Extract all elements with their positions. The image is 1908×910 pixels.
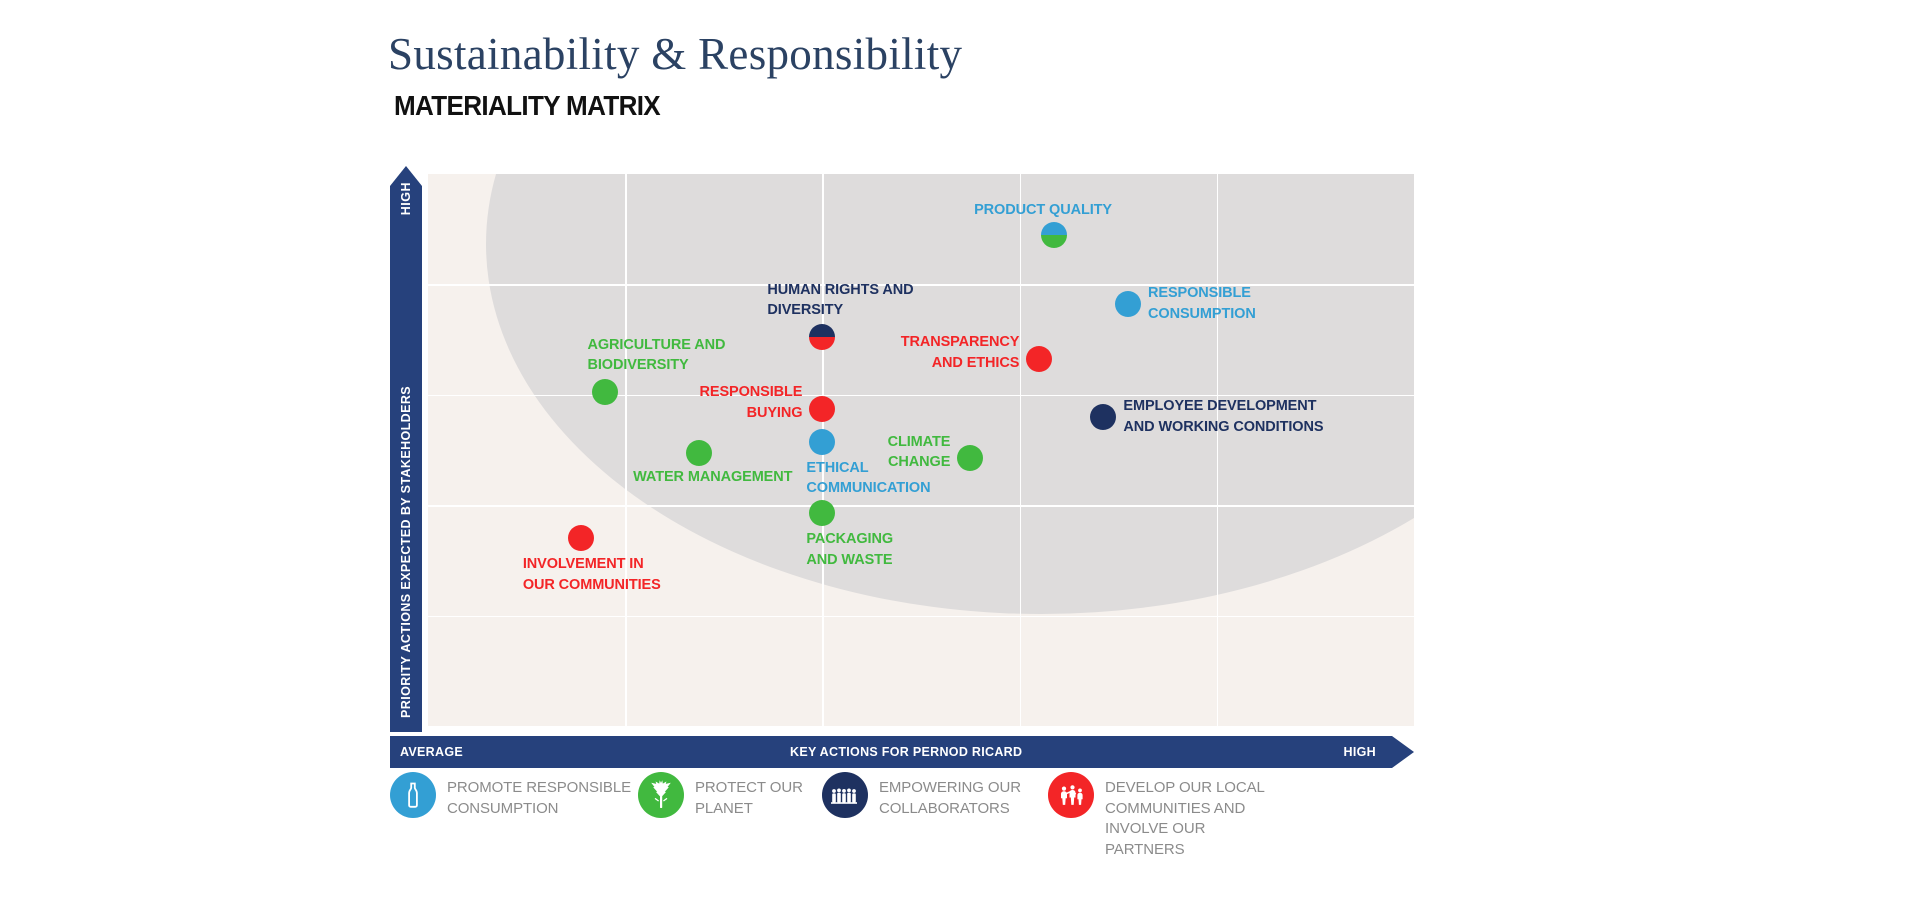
materiality-matrix-chart: HIGH PRIORITY ACTIONS EXPECTED BY STAKEH… [390,166,1414,732]
data-point[interactable] [809,429,835,455]
gridline-horizontal [428,284,1414,286]
data-point[interactable] [1026,346,1052,372]
gridline-vertical [1020,174,1022,726]
data-point[interactable] [809,500,835,526]
plot-area: PRODUCT QUALITYRESPONSIBLE CONSUMPTIONHU… [428,174,1414,726]
legend-item[interactable]: DEVELOP OUR LOCAL COMMUNITIES AND INVOLV… [1048,772,1265,861]
legend-item[interactable]: PROMOTE RESPONSIBLE CONSUMPTION [390,772,631,819]
data-point-bottom-half [1041,235,1067,248]
handshake-people-icon [1048,772,1094,818]
data-point-label: WATER MANAGEMENT [633,467,792,488]
legend-item[interactable]: EMPOWERING OUR COLLABORATORS [822,772,1021,819]
chart-legend: PROMOTE RESPONSIBLE CONSUMPTIONPROTECT O… [390,772,1450,892]
legend-item[interactable]: PROTECT OUR PLANET [638,772,803,819]
data-point[interactable] [568,525,594,551]
data-point[interactable] [686,440,712,466]
page-title: Sustainability & Responsibility [388,28,962,80]
data-point-label: EMPLOYEE DEVELOPMENT AND WORKING CONDITI… [1123,396,1323,437]
data-point[interactable] [592,379,618,405]
gridline-horizontal [428,505,1414,507]
x-axis-low-label: AVERAGE [400,745,463,759]
data-point[interactable] [1115,291,1141,317]
title-block: Sustainability & Responsibility MATERIAL… [388,28,962,122]
data-point-top-half [1041,222,1067,235]
gridline-horizontal [428,616,1414,618]
data-point-label: PACKAGING AND WASTE [806,529,893,570]
data-point-label: RESPONSIBLE BUYING [700,382,803,423]
x-axis-title: KEY ACTIONS FOR PERNOD RICARD [790,745,1022,759]
people-crowd-icon [822,772,868,818]
data-point[interactable] [1090,404,1116,430]
data-point-label: HUMAN RIGHTS AND DIVERSITY [767,280,913,321]
x-axis-bar: AVERAGE KEY ACTIONS FOR PERNOD RICARD HI… [390,736,1414,768]
data-point-top-half [809,324,835,337]
data-point-label: TRANSPARENCY AND ETHICS [901,332,1020,373]
data-point[interactable] [809,324,835,350]
legend-item-label: DEVELOP OUR LOCAL COMMUNITIES AND INVOLV… [1105,772,1265,861]
data-point-label: PRODUCT QUALITY [974,200,1112,221]
data-point[interactable] [1041,222,1067,248]
data-point-bottom-half [809,337,835,350]
y-axis-bar: HIGH PRIORITY ACTIONS EXPECTED BY STAKEH… [390,166,422,732]
data-point-label: RESPONSIBLE CONSUMPTION [1148,283,1256,324]
page-subtitle: MATERIALITY MATRIX [394,90,923,122]
data-point-label: CLIMATE CHANGE [888,432,951,473]
tree-icon [638,772,684,818]
gridline-vertical [1217,174,1219,726]
legend-item-label: PROTECT OUR PLANET [695,772,803,819]
legend-item-label: EMPOWERING OUR COLLABORATORS [879,772,1021,819]
gridline-vertical [625,174,627,726]
data-point-label: INVOLVEMENT IN OUR COMMUNITIES [523,554,661,595]
bottle-icon [390,772,436,818]
data-point-label: AGRICULTURE AND BIODIVERSITY [587,335,725,376]
y-axis-high-label: HIGH [399,182,413,215]
y-axis-title: PRIORITY ACTIONS EXPECTED BY STAKEHOLDER… [399,386,413,718]
x-axis-high-label: HIGH [1344,745,1376,759]
data-point[interactable] [809,396,835,422]
data-point[interactable] [957,445,983,471]
legend-item-label: PROMOTE RESPONSIBLE CONSUMPTION [447,772,631,819]
